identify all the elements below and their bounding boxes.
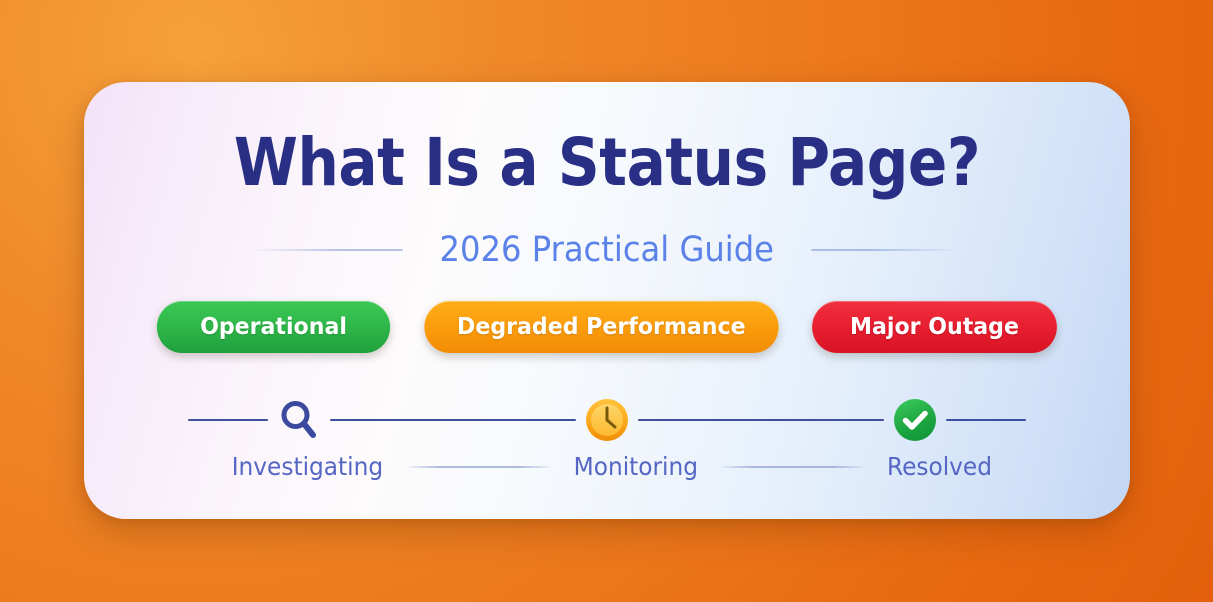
timeline-label-resolved: Resolved bbox=[887, 452, 992, 481]
timeline-node-resolved[interactable] bbox=[890, 395, 940, 445]
timeline-label-monitoring: Monitoring bbox=[574, 452, 698, 481]
timeline-connector-end bbox=[946, 419, 1026, 422]
subtitle-row: 2026 Practical Guide bbox=[84, 230, 1130, 270]
status-badge-major-outage[interactable]: Major Outage bbox=[812, 301, 1057, 353]
clock-icon bbox=[583, 396, 631, 444]
status-badge-degraded-performance[interactable]: Degraded Performance bbox=[424, 301, 778, 353]
card-inner: What Is a Status Page? 2026 Practical Gu… bbox=[84, 82, 1130, 519]
subtitle-divider-left bbox=[253, 249, 403, 251]
timeline-label-investigating: Investigating bbox=[232, 452, 383, 481]
magnifying-glass-icon bbox=[275, 396, 323, 444]
timeline-connector-start bbox=[188, 419, 268, 422]
timeline-label-row: Investigating Monitoring Resolved bbox=[188, 452, 1026, 481]
timeline-label-divider-1 bbox=[409, 466, 549, 468]
subtitle-divider-right bbox=[811, 249, 961, 251]
poster-canvas: What Is a Status Page? 2026 Practical Gu… bbox=[0, 0, 1213, 602]
status-badge-operational[interactable]: Operational bbox=[157, 301, 390, 353]
page-subtitle: 2026 Practical Guide bbox=[440, 230, 774, 270]
timeline-label-divider-2 bbox=[723, 466, 863, 468]
incident-timeline: Investigating Monitoring Resolved bbox=[84, 392, 1130, 502]
timeline-connector-2 bbox=[638, 419, 884, 422]
check-circle-icon bbox=[891, 396, 939, 444]
status-page-card: What Is a Status Page? 2026 Practical Gu… bbox=[84, 82, 1130, 519]
timeline-connector-1 bbox=[330, 419, 576, 422]
timeline-node-investigating[interactable] bbox=[274, 395, 324, 445]
timeline-icon-row bbox=[188, 392, 1026, 448]
page-title: What Is a Status Page? bbox=[147, 128, 1067, 197]
status-badge-group: Operational Degraded Performance Major O… bbox=[84, 301, 1130, 353]
timeline-node-monitoring[interactable] bbox=[582, 395, 632, 445]
